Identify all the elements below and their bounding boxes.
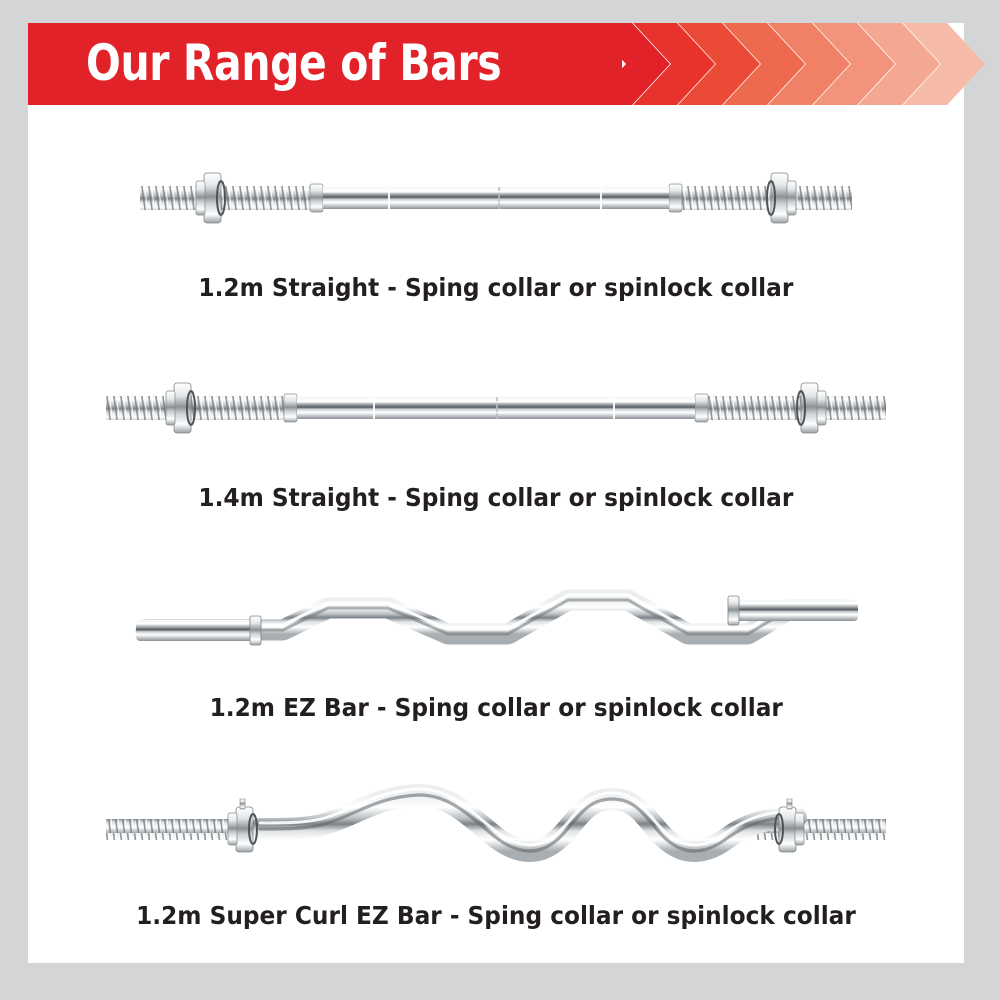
barbell-straight-icon xyxy=(28,153,964,243)
page-title: Our Range of Bars xyxy=(86,34,592,92)
barbell-super-curl-icon xyxy=(28,773,964,883)
product-caption-4: 1.2m Super Curl EZ Bar - Sping collar or… xyxy=(28,901,964,930)
product-caption-3: 1.2m EZ Bar - Sping collar or spinlock c… xyxy=(28,693,964,722)
product-caption-1: 1.2m Straight - Sping collar or spinlock… xyxy=(28,273,964,302)
barbell-ez-curl-icon xyxy=(28,578,964,668)
product-row-2: 1.4m Straight - Sping collar or spinlock… xyxy=(28,363,964,453)
product-row-4: 1.2m Super Curl EZ Bar - Sping collar or… xyxy=(28,773,964,883)
chevron-icon-8 xyxy=(903,23,985,105)
product-row-1: 1.2m Straight - Sping collar or spinlock… xyxy=(28,153,964,243)
banner: Our Range of Bars xyxy=(28,23,964,105)
page-title-text: Our Range of Bars xyxy=(86,34,501,92)
barbell-straight-icon xyxy=(28,363,964,453)
product-row-3: 1.2m EZ Bar - Sping collar or spinlock c… xyxy=(28,578,964,668)
poster-canvas: Our Range of Bars xyxy=(28,23,964,963)
product-caption-2: 1.4m Straight - Sping collar or spinlock… xyxy=(28,483,964,512)
